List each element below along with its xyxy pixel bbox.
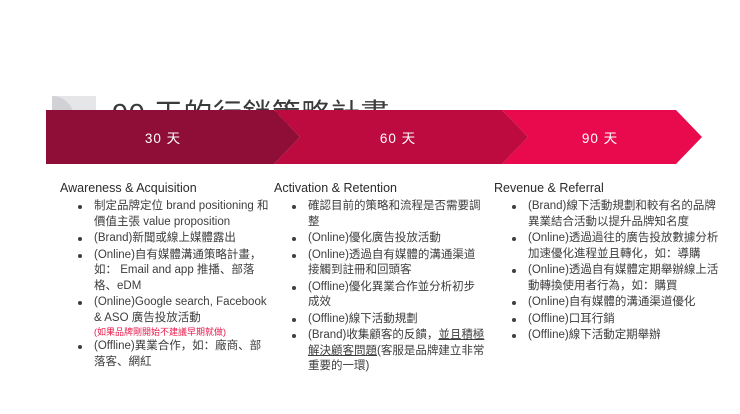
bullet-list: (Brand)線下活動規劃和較有名的品牌異業結合活動以提升品牌知名度 (Onli… bbox=[494, 199, 722, 344]
bullet-text: (Online)自有媒體的溝通渠道優化 bbox=[528, 296, 695, 308]
timeline-band: 30 天 60 天 90 天 bbox=[46, 110, 702, 164]
list-item: 制定品牌定位 brand positioning 和價值主張 value pro… bbox=[78, 199, 270, 230]
bullet-list: 確認目前的策略和流程是否需要調整 (Online)優化廣告投放活動 (Onlin… bbox=[274, 199, 486, 375]
title-row: 90 天的行銷策略計畫 bbox=[0, 44, 740, 102]
column-heading: Revenue & Referral bbox=[494, 180, 722, 196]
list-item: (Online)透過過往的廣告投放數據分析加速優化進程並且轉化，如：導購 bbox=[512, 231, 722, 262]
list-item: (Online)透過自有媒體定期舉辦線上活動轉換使用者行為，如：購買 bbox=[512, 263, 722, 294]
timeline-stage-90-label: 90 天 bbox=[582, 127, 618, 147]
bullet-text: (Online)自有媒體溝通策略計畫，如： Email and app 推播、部… bbox=[94, 249, 261, 292]
column-heading: Awareness & Acquisition bbox=[60, 180, 270, 196]
bullet-text: (Online)透過過往的廣告投放數據分析加速優化進程並且轉化，如：導購 bbox=[528, 232, 718, 260]
timeline-stage-60-label: 60 天 bbox=[380, 127, 416, 147]
column-activation-retention: Activation & Retention 確認目前的策略和流程是否需要調整 … bbox=[274, 180, 486, 376]
bullet-text: (Brand)新聞或線上媒體露出 bbox=[94, 232, 236, 244]
list-item: (Offline)異業合作，如：廠商、部落客、網紅 bbox=[78, 339, 270, 370]
list-item: (Brand)收集顧客的反饋，並且積極解決顧客問題(客服是品牌建立非常重要的一環… bbox=[292, 328, 486, 375]
bullet-text: (Online)Google search, Facebook & ASO 廣告… bbox=[94, 296, 267, 324]
column-heading: Activation & Retention bbox=[274, 180, 486, 196]
list-item: (Offline)口耳行銷 bbox=[512, 312, 722, 328]
list-item: (Brand)線下活動規劃和較有名的品牌異業結合活動以提升品牌知名度 bbox=[512, 199, 722, 230]
bullet-text: 確認目前的策略和流程是否需要調整 bbox=[308, 200, 481, 228]
bullet-text: (Offline)口耳行銷 bbox=[528, 313, 615, 325]
bullet-text: (Offline)優化異業合作並分析初步成效 bbox=[308, 281, 475, 309]
column-awareness-acquisition: Awareness & Acquisition 制定品牌定位 brand pos… bbox=[60, 180, 270, 371]
bullet-text: (Offline)線下活動定期舉辦 bbox=[528, 329, 661, 341]
list-item: (Brand)新聞或線上媒體露出 bbox=[78, 231, 270, 247]
bullet-text: (Online)透過自有媒體定期舉辦線上活動轉換使用者行為，如：購買 bbox=[528, 264, 718, 292]
list-item: (Online)透過自有媒體的溝通渠道接觸到註冊和回頭客 bbox=[292, 248, 486, 279]
timeline-stage-90[interactable]: 90 天 bbox=[502, 110, 702, 164]
bullet-list: 制定品牌定位 brand positioning 和價值主張 value pro… bbox=[60, 199, 270, 370]
bullet-text: 制定品牌定位 brand positioning 和價值主張 value pro… bbox=[94, 200, 268, 228]
bullet-text: (Brand)收集顧客的反饋， bbox=[308, 329, 438, 341]
column-revenue-referral: Revenue & Referral (Brand)線下活動規劃和較有名的品牌異… bbox=[494, 180, 722, 345]
list-item: (Online)自有媒體溝通策略計畫，如： Email and app 推播、部… bbox=[78, 248, 270, 295]
list-item: (Offline)優化異業合作並分析初步成效 bbox=[292, 280, 486, 311]
bullet-text: (Offline)線下活動規劃 bbox=[308, 313, 418, 325]
timeline-stage-60[interactable]: 60 天 bbox=[274, 110, 528, 164]
list-item: (Offline)線下活動定期舉辦 bbox=[512, 328, 722, 344]
timeline-stage-30-label: 30 天 bbox=[145, 127, 181, 147]
list-item: (Online)Google search, Facebook & ASO 廣告… bbox=[78, 295, 270, 338]
list-item: (Online)自有媒體的溝通渠道優化 bbox=[512, 295, 722, 311]
list-item: 確認目前的策略和流程是否需要調整 bbox=[292, 199, 486, 230]
bullet-text: (Brand)線下活動規劃和較有名的品牌異業結合活動以提升品牌知名度 bbox=[528, 200, 716, 228]
list-item: (Online)優化廣告投放活動 bbox=[292, 231, 486, 247]
bullet-text: (Online)透過自有媒體的溝通渠道接觸到註冊和回頭客 bbox=[308, 249, 475, 277]
bullet-text: (Online)優化廣告投放活動 bbox=[308, 232, 441, 244]
list-item: (Offline)線下活動規劃 bbox=[292, 312, 486, 328]
timeline-stage-30[interactable]: 30 天 bbox=[46, 110, 300, 164]
bullet-text: (Offline)異業合作，如：廠商、部落客、網紅 bbox=[94, 340, 261, 368]
content-columns: Awareness & Acquisition 制定品牌定位 brand pos… bbox=[0, 180, 740, 410]
bullet-note-red: (如果品牌剛開始不建議早期就做) bbox=[94, 326, 270, 338]
